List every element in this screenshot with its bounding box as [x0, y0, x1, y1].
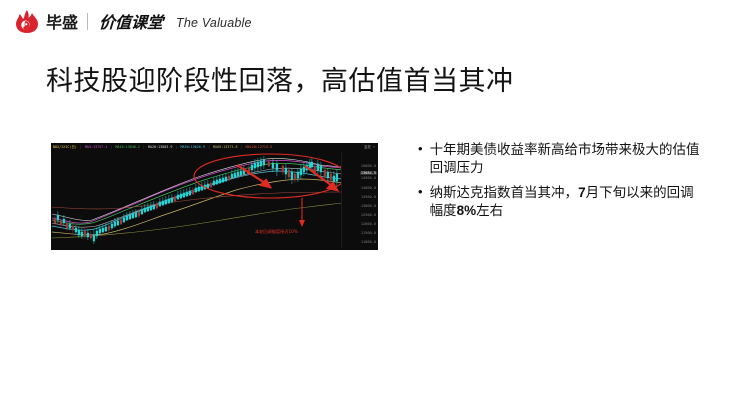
bullet2-post: 左右: [476, 203, 503, 219]
bullet-marker: •: [418, 140, 423, 158]
bullet-text-2: 纳斯达克指数首当其冲，7月下旬以来的回调幅度8%左右: [430, 184, 703, 220]
y-tick-6: 12000.0: [361, 222, 376, 226]
brand-logo: 毕盛 价值课堂 The Valuable: [14, 9, 252, 34]
legend-item-5: MA60:13373.8: [213, 144, 238, 151]
chart-svg: [52, 152, 342, 248]
bullet-marker: •: [418, 183, 423, 201]
brand-course-cn: 价值课堂: [99, 15, 164, 31]
y-tick-3: 13500.0: [361, 195, 376, 199]
bullet2-bold-pct: 8%: [457, 203, 477, 218]
legend-item-6: MA120:12713.5: [246, 144, 273, 151]
chart-annotation-label: 本轮回调幅度接近10%: [255, 229, 298, 235]
flame-logo-icon: [14, 9, 40, 34]
legend-item-1: MA5:13757.1: [85, 144, 107, 151]
slide-header: 毕盛 价值课堂 The Valuable: [0, 0, 750, 46]
legend-item-3: MA20:13803.9: [148, 144, 173, 151]
page-title: 科技股迎阶段性回落，高估值首当其冲: [46, 66, 514, 97]
y-tick-4: 13000.0: [361, 204, 376, 208]
y-last-price-pill: 13684.5: [360, 171, 377, 175]
y-tick-7: 11500.0: [361, 231, 376, 235]
y-tick-2: 14000.0: [361, 186, 376, 190]
list-item: • 纳斯达克指数首当其冲，7月下旬以来的回调幅度8%左右: [418, 184, 703, 220]
brand-name-en: The Valuable: [176, 16, 252, 30]
brand-divider: [87, 13, 88, 30]
bullet2-bold-month: 7: [578, 185, 586, 200]
y-tick-5: 12500.0: [361, 213, 376, 217]
bullet-text-1: 十年期美债收益率新高给市场带来极大的估值回调压力: [430, 141, 703, 177]
chart-adjust-dropdown[interactable]: 复权 ▾: [364, 144, 375, 151]
legend-item-2: MA10:13840.2: [115, 144, 140, 151]
bullet2-pre: 纳斯达克指数首当其冲，: [430, 185, 579, 201]
y-tick-1: 14500.0: [361, 176, 376, 180]
nasdaq-candlestick-chart: NDX/IXIC(日)| MA5:13757.1| MA10:13840.2| …: [51, 143, 378, 250]
y-tick-0: 15000.0: [361, 164, 376, 168]
y-tick-8: 11000.0: [361, 240, 376, 244]
legend-item-4: MA30:13626.9: [180, 144, 205, 151]
chart-legend: NDX/IXIC(日)| MA5:13757.1| MA10:13840.2| …: [53, 144, 272, 151]
list-item: • 十年期美债收益率新高给市场带来极大的估值回调压力: [418, 141, 703, 177]
chart-plot-area: 本轮回调幅度接近10%: [52, 152, 342, 248]
brand-name-cn: 毕盛: [46, 15, 78, 31]
legend-item-0: NDX/IXIC(日): [53, 144, 77, 151]
bullet-list: • 十年期美债收益率新高给市场带来极大的估值回调压力 • 纳斯达克指数首当其冲，…: [418, 141, 703, 227]
chart-y-axis: 13684.5 15000.0 14500.0 14000.0 13500.0 …: [341, 152, 378, 248]
